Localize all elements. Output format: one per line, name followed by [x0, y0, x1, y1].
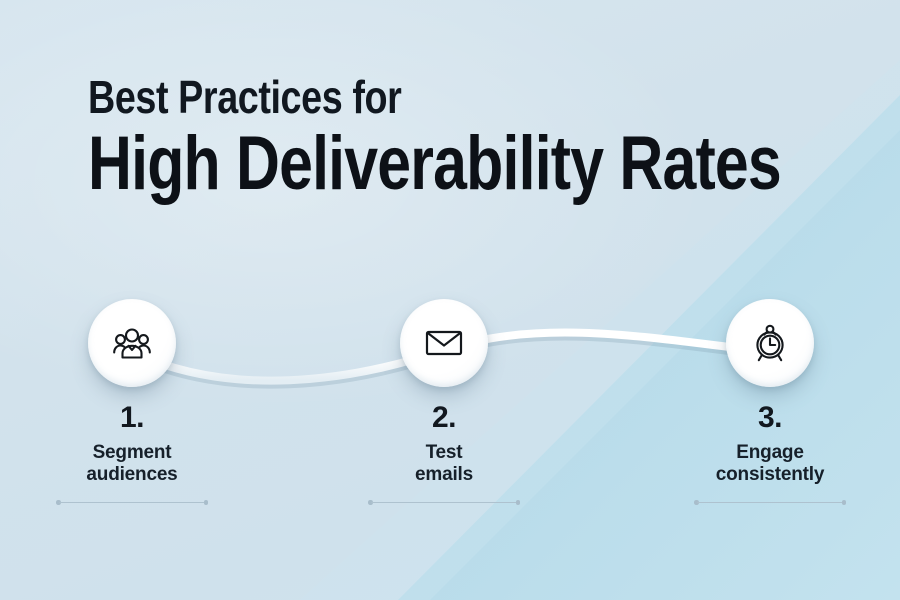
step-icon-circle-1[interactable]	[88, 299, 176, 387]
step-item-2[interactable]: 2. Test emails	[344, 299, 544, 504]
step-label-2: Test emails	[344, 442, 544, 487]
step-label-3-line1: Engage	[670, 442, 870, 464]
step-label-3: Engage consistently	[670, 442, 870, 487]
group-people-icon	[112, 326, 152, 360]
step-divider-3	[694, 501, 846, 504]
alarm-clock-icon	[751, 323, 789, 363]
step-label-2-line1: Test	[344, 442, 544, 464]
step-label-1-line1: Segment	[32, 442, 232, 464]
step-icon-circle-3[interactable]	[726, 299, 814, 387]
step-number-2: 2.	[344, 403, 544, 433]
step-divider-1	[56, 501, 208, 504]
step-label-3-line2: consistently	[670, 464, 870, 486]
infographic-canvas: Best Practices for High Deliverability R…	[0, 0, 900, 600]
step-label-1: Segment audiences	[32, 442, 232, 487]
steps-container: 1. Segment audiences	[0, 0, 900, 600]
step-number-1: 1.	[32, 403, 232, 433]
step-icon-circle-2[interactable]	[400, 299, 488, 387]
divider-dot-right	[842, 500, 847, 505]
step-label-2-line2: emails	[344, 464, 544, 486]
step-divider-2	[368, 501, 520, 504]
divider-dot-right	[516, 500, 521, 505]
divider-dot-right	[204, 500, 209, 505]
step-number-3: 3.	[670, 403, 870, 433]
step-item-1[interactable]: 1. Segment audiences	[32, 299, 232, 504]
divider-bar	[59, 502, 205, 504]
divider-bar	[371, 502, 517, 504]
step-label-1-line2: audiences	[32, 464, 232, 486]
step-item-3[interactable]: 3. Engage consistently	[670, 299, 870, 504]
envelope-icon	[425, 329, 463, 357]
divider-bar	[697, 502, 843, 504]
